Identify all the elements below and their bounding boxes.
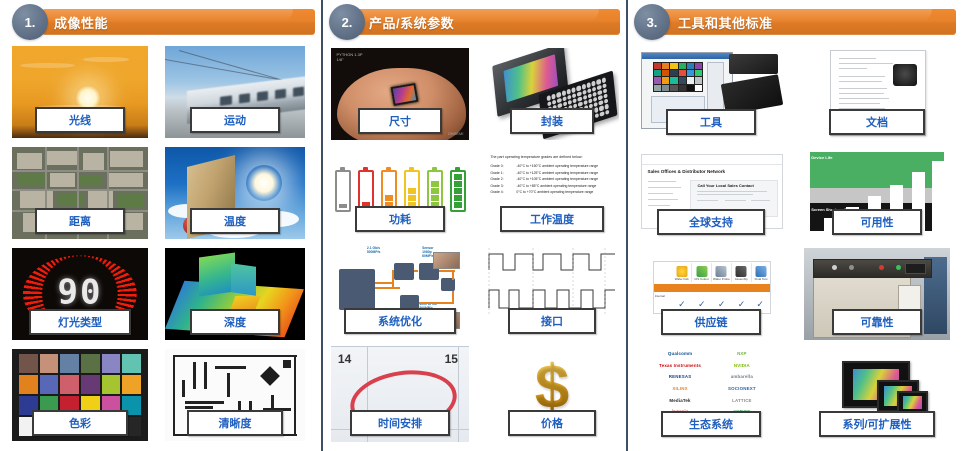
grade-label: Grade 4: xyxy=(490,189,516,195)
photo-watermark-bottom: ONSEMI xyxy=(448,131,464,136)
tile-reliability[interactable]: 可靠性 xyxy=(804,248,950,340)
logo-0: Qualcomm xyxy=(650,351,711,356)
tile-price[interactable]: $ 价格 xyxy=(485,346,619,442)
tile-supply-chain[interactable]: Wafer Fab CIS Colour Wafer Probe Assembl… xyxy=(638,248,784,340)
logo-2: Texas Instruments xyxy=(650,363,711,368)
grade-table-rows: Grade 0:-40°C to +150°C ambient operatin… xyxy=(490,163,613,195)
webpage-heading: Sales Offices & Distributor Network xyxy=(648,169,726,174)
tile-schedule[interactable]: 14 15 时间安排 xyxy=(331,346,469,442)
table-col-1: CIS Colour xyxy=(692,277,711,281)
caption-light-type: 灯光类型 xyxy=(29,309,131,335)
tile-size[interactable]: PYTHON 1.3P1/8" ONSEMI 尺寸 xyxy=(331,48,469,140)
tile-grid-2: PYTHON 1.3P1/8" ONSEMI 尺寸 xyxy=(323,40,626,451)
tile-color[interactable]: 色彩 xyxy=(12,349,148,441)
column-2-header: 2. 产品/系统参数 xyxy=(323,0,626,40)
column-imaging-performance: 1. 成像性能 光线 xyxy=(0,0,321,451)
caption-schedule: 时间安排 xyxy=(350,410,450,436)
caption-package: 封装 xyxy=(510,108,594,134)
column-tools-and-other-criteria: 3. 工具和其他标准 xyxy=(626,0,962,451)
grade-range: -40°C to +125°C ambient operating temper… xyxy=(516,171,598,175)
logo-4: RENESAS xyxy=(650,374,711,379)
tile-temperature[interactable]: 温度 xyxy=(165,147,305,239)
tile-system-optimization[interactable]: 2.1 Gb/s500MP/s Sensor1080p60MP/s 100x t… xyxy=(331,246,469,340)
tile-power[interactable]: 功耗 xyxy=(331,148,469,240)
caption-light: 光线 xyxy=(35,107,125,133)
tile-grid-3: 工具 xyxy=(628,40,962,451)
tile-global-support[interactable]: Sales Offices & Distributor Network Call… xyxy=(638,148,784,240)
caption-interface: 接口 xyxy=(508,308,596,334)
photo-watermark-top: PYTHON 1.3P1/8" xyxy=(337,52,363,63)
tile-tools[interactable]: 工具 xyxy=(638,48,784,140)
tile-family-scalability[interactable]: 系列/可扩展性 xyxy=(804,348,950,442)
caption-size: 尺寸 xyxy=(358,108,442,134)
logo-8: MediaTek xyxy=(650,398,711,403)
grade-range: -40°C to +150°C ambient operating temper… xyxy=(516,164,598,168)
caption-ecosystem: 生态系统 xyxy=(661,411,761,437)
tile-depth[interactable]: 深度 xyxy=(165,248,305,340)
tile-light[interactable]: 光线 xyxy=(12,46,148,138)
column-title: 成像性能 xyxy=(54,13,108,32)
column-title: 产品/系统参数 xyxy=(369,13,454,32)
column-number-badge: 1. xyxy=(12,4,48,40)
camera-module xyxy=(729,54,779,74)
grade-range: 0°C to +70°C ambient operating temperatu… xyxy=(516,190,593,194)
grade-table-intro: The part operating temperature grades ar… xyxy=(490,155,613,159)
caption-documentation: 文档 xyxy=(829,109,925,135)
caption-operating-temperature: 工作温度 xyxy=(500,206,604,232)
caption-depth: 深度 xyxy=(190,309,280,335)
table-col-2: Wafer Probe xyxy=(712,277,731,281)
table-row-label: Internal xyxy=(655,294,665,298)
caption-tools: 工具 xyxy=(666,109,756,135)
tile-documentation[interactable]: 文档 xyxy=(804,48,950,140)
tile-operating-temperature[interactable]: The part operating temperature grades ar… xyxy=(485,148,619,240)
column-product-system-parameters: 2. 产品/系统参数 PYTHON 1.3P1/8" ONSEMI 尺寸 xyxy=(321,0,626,451)
caption-family-scalability: 系列/可扩展性 xyxy=(819,411,935,437)
logo-7: SOCIONEXT xyxy=(711,386,772,391)
table-col-3: Assembly xyxy=(732,277,751,281)
tile-light-type[interactable]: 90 灯光类型 xyxy=(12,248,148,340)
tile-grid-1: 光线 运动 xyxy=(0,40,321,451)
grade-range: -40°C to +105°C ambient operating temper… xyxy=(516,177,598,181)
table-header-band xyxy=(654,284,771,292)
caption-system-optimization: 系统优化 xyxy=(344,308,456,334)
column-title: 工具和其他标准 xyxy=(678,13,773,32)
datasheet-product-photo xyxy=(893,64,917,86)
logo-3: NVIDIA xyxy=(711,363,772,368)
caption-sharpness: 清晰度 xyxy=(187,410,283,436)
logo-6: XILINX xyxy=(650,386,711,391)
grade-range: -40°C to +85°C ambient operating tempera… xyxy=(516,184,596,188)
tile-ecosystem[interactable]: Qualcomm NXP Texas Instruments NVIDIA RE… xyxy=(638,348,784,442)
column-3-header: 3. 工具和其他标准 xyxy=(628,0,962,40)
speed-limit-value: 90 xyxy=(58,272,103,312)
tile-motion[interactable]: 运动 xyxy=(165,46,305,138)
logo-9: LATTICE xyxy=(711,398,772,403)
tile-interface[interactable]: 接口 xyxy=(485,246,619,340)
caption-global-support: 全球支持 xyxy=(657,209,765,235)
tile-package[interactable]: 封装 xyxy=(485,48,619,140)
tile-distance[interactable]: 距离 xyxy=(12,147,148,239)
chart-label-top: Device Life xyxy=(811,155,832,160)
caption-color: 色彩 xyxy=(32,410,128,436)
caption-availability: 可用性 xyxy=(832,209,922,235)
logo-1: NXP xyxy=(711,351,772,356)
tile-availability[interactable]: Device Life Screen Shortage Zone 可用性 xyxy=(804,148,950,240)
sun-flare-icon xyxy=(246,165,282,201)
table-col-4: Final Test xyxy=(752,277,771,281)
column-1-header: 1. 成像性能 xyxy=(0,0,321,40)
caption-power: 功耗 xyxy=(355,206,445,232)
caption-reliability: 可靠性 xyxy=(832,309,922,335)
caption-price: 价格 xyxy=(508,410,596,436)
caption-supply-chain: 供应链 xyxy=(661,309,761,335)
caption-motion: 运动 xyxy=(190,107,280,133)
supply-chain-table: Wafer Fab CIS Colour Wafer Probe Assembl… xyxy=(653,261,772,315)
sensor-die xyxy=(390,83,418,106)
logo-5: ambarella xyxy=(711,374,772,379)
tile-sharpness[interactable]: 清晰度 xyxy=(165,349,305,441)
column-number-badge: 2. xyxy=(329,4,365,40)
table-col-0: Wafer Fab xyxy=(672,277,691,281)
calendar-day-14: 14 xyxy=(338,352,351,366)
caption-distance: 距离 xyxy=(35,208,125,234)
column-number-badge: 3. xyxy=(634,4,670,40)
caption-temperature: 温度 xyxy=(190,208,280,234)
webpage-card-heading: Call Your Local Sales Contact xyxy=(697,183,753,188)
slide-root: 1. 成像性能 光线 xyxy=(0,0,962,451)
calendar-day-15: 15 xyxy=(445,352,458,366)
